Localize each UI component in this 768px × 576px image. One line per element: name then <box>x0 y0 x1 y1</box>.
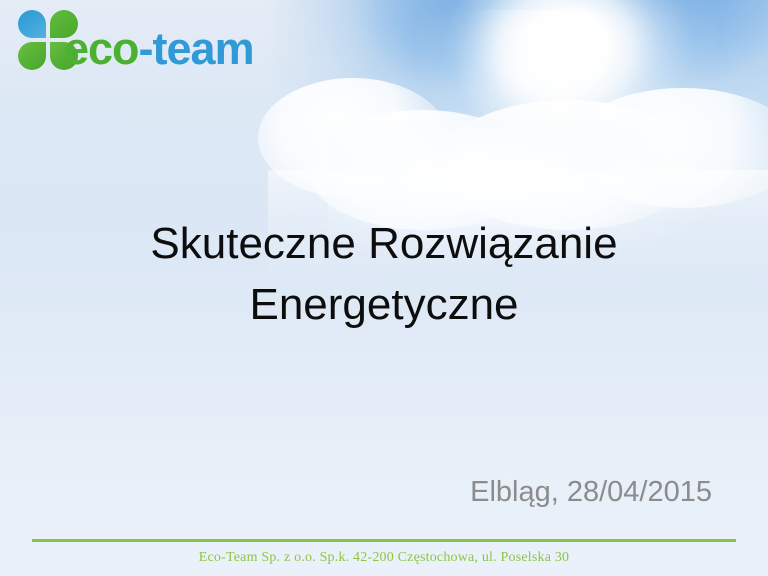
leaf-top-left-icon <box>18 10 46 38</box>
slide-title-line-1: Skuteczne Rozwiązanie <box>84 214 684 275</box>
cloud-shape-left-lower <box>308 110 538 230</box>
footer-divider <box>32 539 736 542</box>
sun-beam <box>453 10 643 185</box>
presentation-slide: eco-team Skuteczne Rozwiązanie Energetyc… <box>0 0 768 576</box>
sun-glow <box>418 0 718 170</box>
slide-title: Skuteczne Rozwiązanie Energetyczne <box>84 214 684 335</box>
cloud-shape-left <box>258 78 448 198</box>
slide-date-location: Elbląg, 28/04/2015 <box>0 476 712 509</box>
footer-company-address: Eco-Team Sp. z o.o. Sp.k. 42-200 Częstoc… <box>0 550 768 566</box>
logo-wordmark: eco-team <box>64 26 254 71</box>
logo-word-team: -team <box>139 23 254 74</box>
cloud-shape-center <box>438 100 698 230</box>
slide-title-line-2: Energetyczne <box>84 275 684 336</box>
logo-word-eco: eco <box>64 23 139 74</box>
cloud-shape-right <box>568 88 768 208</box>
leaf-bottom-left-icon <box>18 42 46 70</box>
eco-team-logo: eco-team <box>18 10 228 82</box>
